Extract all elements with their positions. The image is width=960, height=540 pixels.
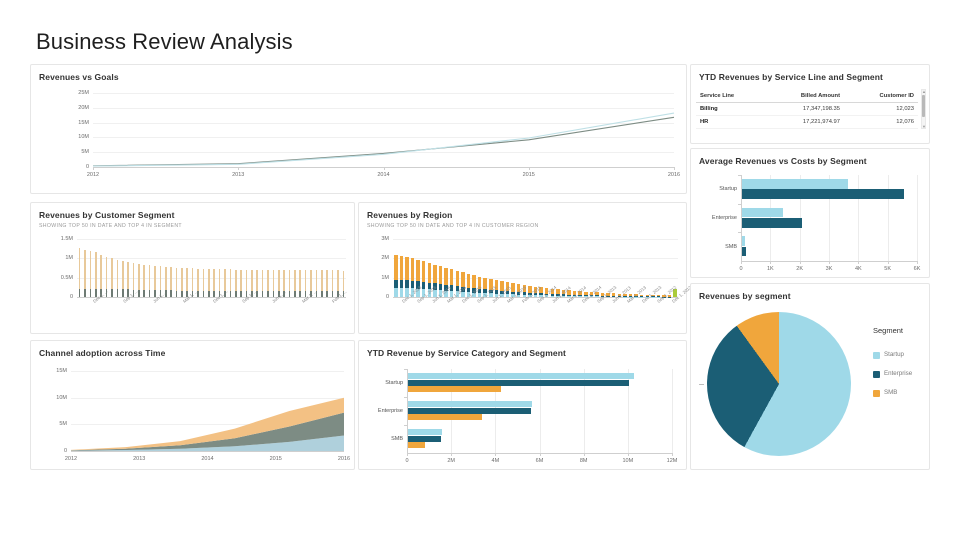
- bar-segment: [578, 296, 581, 297]
- line-series: [93, 113, 674, 166]
- cell-customer-id: 12,023: [844, 103, 918, 116]
- legend-label[interactable]: Enterprise: [884, 370, 912, 377]
- x-axis-tick: [917, 261, 918, 264]
- bar: [742, 208, 783, 218]
- bar-segment: [138, 264, 140, 290]
- bar-segment: [467, 274, 470, 288]
- bar-segment: [235, 270, 237, 291]
- y-axis-tick: [404, 425, 407, 426]
- bar-segment: [117, 289, 119, 297]
- column-header-billed-amount[interactable]: Billed Amount: [770, 89, 844, 103]
- bar-segment: [332, 270, 334, 291]
- chart-revenues-by-customer-segment: 00.5M1M1.5MDec 1, ...Sep 1, ...Jun 1, ..…: [31, 235, 356, 335]
- bar-segment: [84, 250, 86, 289]
- bar-segment: [551, 294, 554, 296]
- bar-segment: [262, 270, 264, 291]
- category-label: Startup: [361, 380, 403, 386]
- category-label: Enterprise: [693, 215, 737, 221]
- bar-segment: [154, 266, 156, 290]
- bar-segment: [165, 267, 167, 291]
- bar: [408, 373, 634, 379]
- bar-segment: [332, 291, 334, 297]
- bar-segment: [122, 261, 124, 289]
- bar-segment: [316, 270, 318, 291]
- cell-billed-amount: 17,221,974.97: [770, 116, 844, 129]
- bar-segment: [394, 288, 397, 297]
- y-axis-tick-label: 2M: [363, 255, 389, 261]
- line-series-group: [31, 87, 688, 187]
- cell-billed-amount: 17,347,198.35: [770, 103, 844, 116]
- bar-segment: [181, 268, 183, 291]
- bar-segment: [90, 289, 92, 297]
- bar-segment: [111, 258, 113, 289]
- bar-segment: [294, 291, 296, 297]
- y-axis-tick: [738, 175, 741, 176]
- scroll-up-icon[interactable]: ▲: [922, 89, 925, 94]
- column-header-customer-id[interactable]: Customer ID: [844, 89, 918, 103]
- bar-segment: [640, 295, 643, 297]
- bar-segment: [208, 291, 210, 297]
- bar: [408, 380, 629, 386]
- bar-segment: [256, 270, 258, 291]
- column-header-service-line[interactable]: Service Line: [696, 89, 770, 103]
- cell-customer-id: 12,076: [844, 116, 918, 129]
- gridline: [858, 175, 859, 261]
- bar-segment: [444, 268, 447, 285]
- bar-segment: [122, 289, 124, 297]
- dashboard-page: Business Review Analysis Revenues vs Goa…: [0, 0, 960, 540]
- bar-segment: [143, 290, 145, 297]
- x-axis-tick-label: 10M: [622, 458, 633, 464]
- bar: [742, 236, 745, 246]
- category-label: SMB: [693, 244, 737, 250]
- bar-segment: [176, 291, 178, 297]
- bar-segment: [321, 270, 323, 291]
- bar-segment: [79, 248, 81, 289]
- bar-segment: [219, 269, 221, 291]
- bar: [408, 429, 442, 435]
- bar-segment: [203, 269, 205, 291]
- bar-segment: [511, 283, 514, 291]
- table-row[interactable]: HR 17,221,974.97 12,076: [696, 116, 918, 129]
- pie-chart: [707, 312, 851, 456]
- bar-segment: [213, 269, 215, 291]
- bar-segment: [240, 291, 242, 297]
- bar-segment: [262, 291, 264, 297]
- bar-segment: [117, 260, 119, 289]
- bar-segment: [176, 268, 178, 291]
- scrollbar-thumb[interactable]: [922, 95, 925, 117]
- table-row[interactable]: Billing 17,347,198.35 12,023: [696, 103, 918, 116]
- bar-segment: [433, 265, 436, 284]
- chart-revenues-vs-goals: 05M10M15M20M25M20122013201420152016: [31, 87, 688, 187]
- pie-axis-tick: [699, 384, 704, 385]
- category-label: SMB: [361, 436, 403, 442]
- chart-ytd-revenue-service-category: 02M4M6M8M10M12MStartupEnterpriseSMB: [359, 363, 688, 471]
- bar-segment: [149, 290, 151, 297]
- ytd-revenues-table[interactable]: Service Line Billed Amount Customer ID B…: [696, 89, 918, 129]
- y-axis-tick-label: 1.5M: [35, 236, 73, 242]
- chart-channel-adoption: 05M10M15M20122013201420152016: [31, 363, 356, 471]
- panel-subtitle-revenues-by-region: SHOWING TOP 50 IN DATE AND TOP 4 IN CUST…: [359, 220, 686, 229]
- bar-segment: [394, 255, 397, 280]
- bar-segment: [203, 291, 205, 297]
- panel-revenues-by-region: Revenues by Region SHOWING TOP 50 IN DAT…: [358, 202, 687, 334]
- bar: [408, 386, 501, 392]
- x-axis-tick-label: 8M: [580, 458, 588, 464]
- x-axis-tick-label: 6K: [914, 266, 921, 272]
- x-axis-tick-label: 0: [405, 458, 408, 464]
- panel-title-ytd-revenues-table: YTD Revenues by Service Line and Segment: [691, 65, 929, 82]
- chart-revenues-by-segment: SegmentStartupEnterpriseSMB: [691, 302, 931, 471]
- bar: [408, 408, 531, 414]
- bar-segment: [299, 270, 301, 291]
- bar-segment: [411, 281, 414, 289]
- x-axis-tick-label: 0: [739, 266, 742, 272]
- x-axis-line: [407, 453, 672, 454]
- chart-avg-revenues-vs-costs: 01K2K3K4K5K6KStartupEnterpriseSMB: [691, 169, 931, 279]
- x-axis-tick-label: 12M: [667, 458, 678, 464]
- bar-segment: [623, 296, 626, 297]
- y-axis-tick: [738, 232, 741, 233]
- bar-segment: [273, 270, 275, 291]
- bar: [408, 436, 441, 442]
- bar-segment: [400, 280, 403, 288]
- cell-service-line: HR: [696, 116, 770, 129]
- bar-segment: [422, 261, 425, 282]
- bar-segment: [133, 263, 135, 290]
- x-axis-tick-label: 2K: [796, 266, 803, 272]
- bar-segment: [294, 270, 296, 291]
- bar-segment: [111, 289, 113, 297]
- y-axis-tick: [404, 369, 407, 370]
- gridline: [672, 369, 673, 453]
- bar-segment: [235, 291, 237, 297]
- bar-segment: [450, 269, 453, 285]
- table-header-row: Service Line Billed Amount Customer ID: [696, 89, 918, 103]
- legend-label[interactable]: Startup: [884, 351, 904, 358]
- bar-segment: [106, 257, 108, 289]
- bar-segment: [289, 291, 291, 297]
- x-axis-tick-label: 2M: [447, 458, 455, 464]
- bar-segment: [326, 270, 328, 291]
- scroll-down-icon[interactable]: ▼: [922, 124, 925, 129]
- x-axis-tick-label: 4M: [492, 458, 500, 464]
- bar-segment: [405, 280, 408, 288]
- y-axis-tick-label: 1M: [35, 255, 73, 261]
- bar: [408, 414, 482, 420]
- bar-segment: [405, 257, 408, 280]
- bar: [742, 179, 848, 189]
- y-axis-tick-label: 1M: [363, 275, 389, 281]
- bar-segment: [251, 270, 253, 291]
- bar-segment: [428, 263, 431, 283]
- bar-segment: [400, 256, 403, 280]
- y-axis-tick-label: 0: [35, 294, 73, 300]
- bar: [742, 247, 746, 257]
- bar: [408, 442, 425, 448]
- bar-segment: [138, 290, 140, 297]
- bar: [408, 401, 532, 407]
- gridline: [393, 239, 678, 240]
- y-axis-tick: [738, 204, 741, 205]
- bar-segment: [160, 266, 162, 290]
- panel-title-revenues-by-region: Revenues by Region: [359, 203, 686, 220]
- y-axis-tick-label: 0: [363, 294, 389, 300]
- panel-title-revenues-by-customer-segment: Revenues by Customer Segment: [31, 203, 354, 220]
- bar-segment: [84, 289, 86, 297]
- bar-segment: [267, 270, 269, 291]
- bar-segment: [595, 295, 598, 296]
- gridline: [888, 175, 889, 261]
- page-title: Business Review Analysis: [36, 29, 293, 55]
- legend-swatch: [873, 390, 880, 397]
- panel-title-channel-adoption: Channel adoption across Time: [31, 341, 354, 358]
- bar-segment: [186, 268, 188, 290]
- bar-segment: [394, 280, 397, 288]
- bar-segment: [230, 291, 232, 297]
- panel-title-ytd-revenue-service-category: YTD Revenue by Service Category and Segm…: [359, 341, 686, 358]
- x-axis-tick-label: 1K: [767, 266, 774, 272]
- bar-segment: [181, 291, 183, 297]
- x-axis-tick-label: 6M: [536, 458, 544, 464]
- bar-segment: [299, 291, 301, 297]
- panel-title-avg-revenues-vs-costs: Average Revenues vs Costs by Segment: [691, 149, 929, 166]
- bar-segment: [483, 278, 486, 290]
- legend-title: Segment: [873, 326, 903, 335]
- x-axis-tick-label: 4K: [855, 266, 862, 272]
- x-axis-tick: [672, 453, 673, 456]
- gridline: [917, 175, 918, 261]
- bar-segment: [170, 290, 172, 297]
- bar: [742, 189, 904, 199]
- x-axis-line: [741, 261, 917, 262]
- panel-revenues-by-segment: Revenues by segment SegmentStartupEnterp…: [690, 283, 930, 470]
- bar-segment: [337, 270, 339, 291]
- bar-segment: [230, 269, 232, 290]
- bar-segment: [321, 291, 323, 297]
- bar-segment: [197, 269, 199, 291]
- bar-segment: [100, 255, 102, 289]
- bar-segment: [411, 258, 414, 281]
- category-label: Enterprise: [361, 408, 403, 414]
- panel-subtitle-revenues-by-customer-segment: SHOWING TOP 50 IN DATE AND TOP 4 IN SEGM…: [31, 220, 354, 229]
- panel-ytd-revenues-table: YTD Revenues by Service Line and Segment…: [690, 64, 930, 144]
- bar-segment: [439, 266, 442, 284]
- y-axis-tick-label: 3M: [363, 236, 389, 242]
- bar-segment: [208, 269, 210, 291]
- cell-service-line: Billing: [696, 103, 770, 116]
- bar-segment: [326, 291, 328, 297]
- bar-segment: [95, 252, 97, 289]
- area-series-group: [31, 363, 356, 471]
- bar-segment: [90, 251, 92, 289]
- gridline: [393, 258, 678, 259]
- bar-segment: [416, 260, 419, 282]
- panel-channel-adoption: Channel adoption across Time 05M10M15M20…: [30, 340, 355, 470]
- legend-swatch: [873, 371, 880, 378]
- legend-label[interactable]: SMB: [884, 389, 897, 396]
- bar-segment: [456, 271, 459, 286]
- bar-segment: [143, 265, 145, 290]
- bar-segment: [400, 288, 403, 297]
- bar-segment: [192, 268, 194, 290]
- bar-segment: [310, 270, 312, 291]
- bar-segment: [79, 289, 81, 297]
- panel-avg-revenues-vs-costs: Average Revenues vs Costs by Segment 01K…: [690, 148, 930, 278]
- table-scrollbar[interactable]: ▲ ▼: [921, 89, 926, 129]
- line-series: [93, 117, 674, 166]
- gridline: [77, 239, 346, 240]
- panel-title-revenues-by-segment: Revenues by segment: [691, 284, 929, 301]
- bar-segment: [289, 270, 291, 291]
- bar-segment: [278, 270, 280, 291]
- y-axis-tick: [404, 397, 407, 398]
- panel-title-revenues-vs-goals: Revenues vs Goals: [31, 65, 686, 82]
- panel-ytd-revenue-service-category: YTD Revenue by Service Category and Segm…: [358, 340, 687, 470]
- bar-segment: [305, 270, 307, 291]
- bar-segment: [240, 270, 242, 291]
- bar-segment: [267, 291, 269, 297]
- bar-segment: [149, 265, 151, 290]
- chart-revenues-by-region: 01M2M3MDec 1, 2016Sep 1, 2016Jun 1, 2016…: [359, 235, 688, 335]
- bar-segment: [246, 270, 248, 291]
- bar-segment: [127, 262, 129, 289]
- y-axis-tick-label: 0.5M: [35, 275, 73, 281]
- panel-revenues-vs-goals: Revenues vs Goals 05M10M15M20M25M2012201…: [30, 64, 687, 194]
- bar: [742, 218, 802, 228]
- legend-swatch: [873, 352, 880, 359]
- x-axis-tick-label: 3K: [826, 266, 833, 272]
- panel-revenues-by-customer-segment: Revenues by Customer Segment SHOWING TOP…: [30, 202, 355, 334]
- x-axis-tick-label: 5K: [884, 266, 891, 272]
- bar-segment: [170, 267, 172, 290]
- category-label: Startup: [693, 186, 737, 192]
